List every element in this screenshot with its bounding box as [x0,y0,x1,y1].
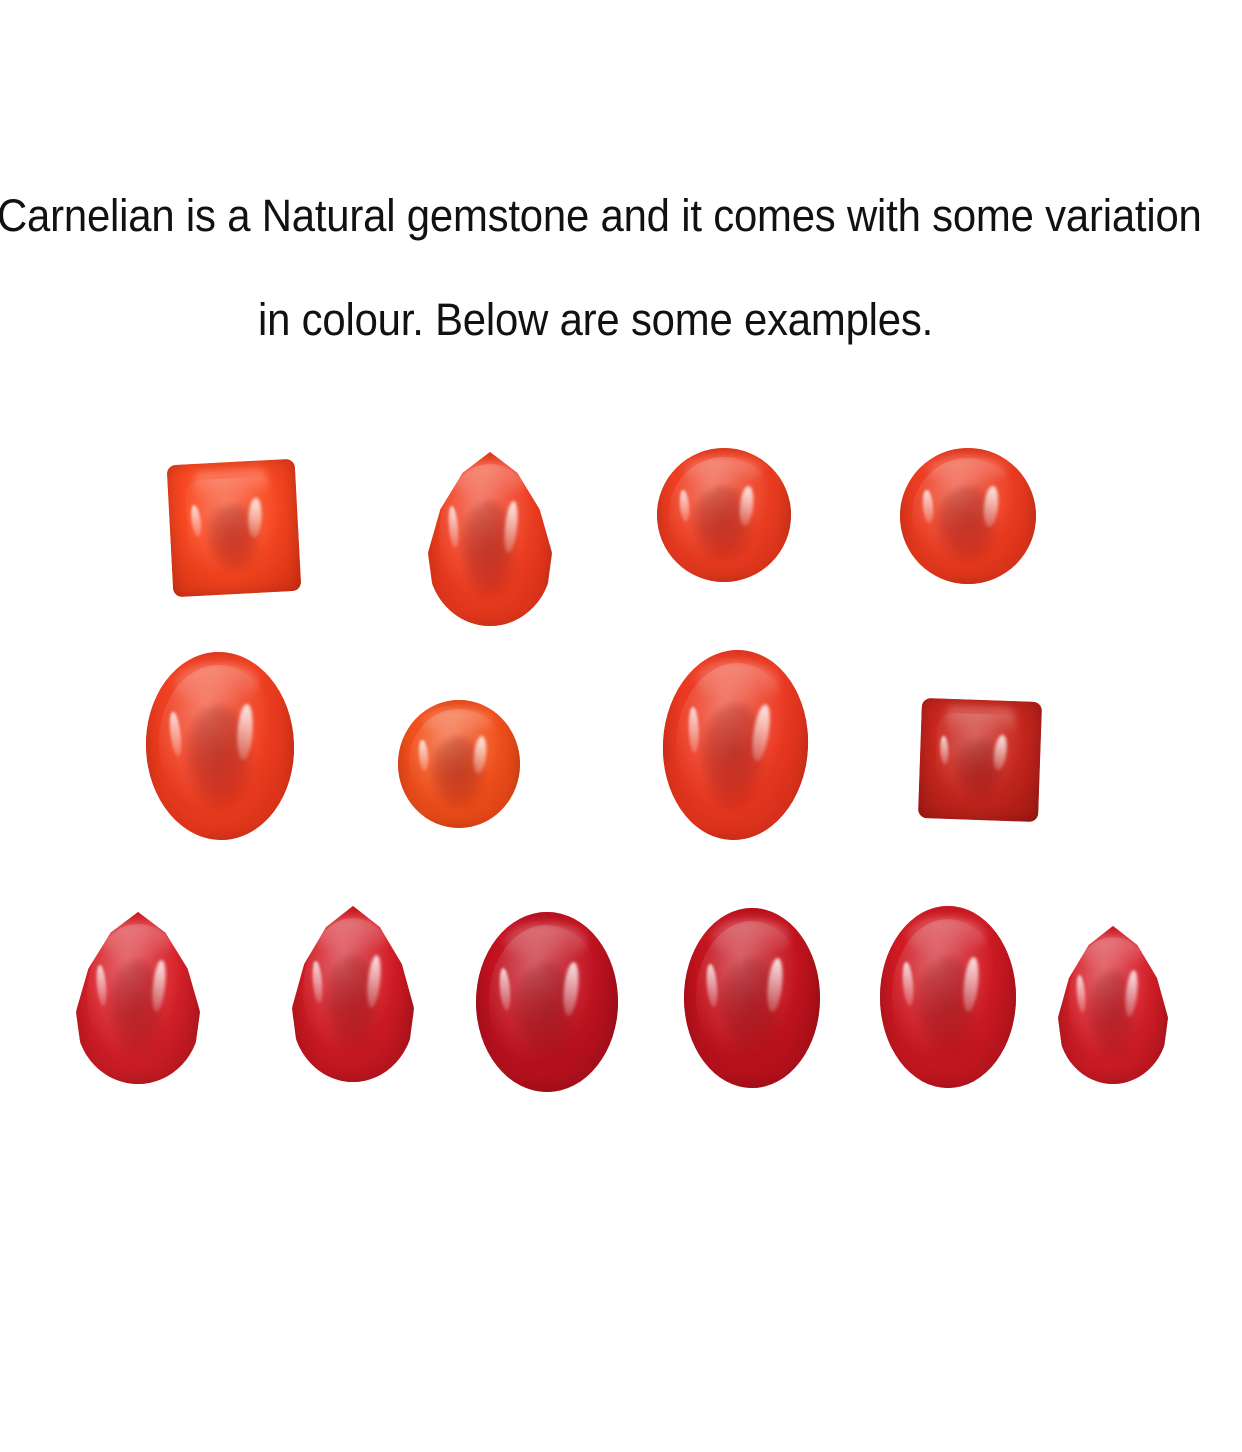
gemstone-pear-2 [428,452,552,626]
gem-dome [669,457,779,570]
gem-body-gradient [76,912,200,1084]
gem-hi-right [150,960,168,1013]
gem-core-shadow [513,962,578,1063]
gem-core-shadow [324,955,380,1054]
gem-core-shadow [697,701,769,811]
gemstone-oval-5 [143,649,297,842]
gem-body-gradient [476,912,618,1092]
gemstone-pear-14 [1058,926,1168,1084]
gem-hi-right [738,485,756,526]
gem-hi-left [922,490,934,523]
gem-hi-left [95,965,107,1007]
gem-rim [900,448,1036,584]
gemstone-pear-10 [292,906,414,1082]
gem-rim [428,452,552,626]
gem-core-shadow [952,737,1005,801]
gem-dome [157,663,284,825]
gem-body-gradient [143,649,297,842]
gem-body-gradient [167,459,302,598]
gem-rim [657,448,791,582]
gem-hi-left [417,739,428,770]
gem-hi-left [940,736,950,765]
gem-rim [684,908,820,1088]
gem-reflection [684,456,762,485]
gem-core-shadow [915,957,978,1059]
gem-dome [87,924,189,1068]
gem-rim [1058,926,1168,1084]
gem-dome [439,464,541,610]
gem-body-gradient [918,698,1042,822]
gemstone-oval-11 [476,912,618,1092]
gem-reflection [316,917,387,956]
caption-block: Carnelian is a Natural gemstone and it c… [0,186,1242,376]
gem-reflection [711,919,790,959]
gem-hi-left [189,504,202,537]
gem-core-shadow [935,486,998,562]
gemstone-oval-13 [880,906,1016,1088]
gem-hi-left [705,963,718,1007]
gem-dome [303,918,403,1066]
gemstone-grid [0,420,1242,1140]
gem-rim [167,459,302,598]
gemstone-round-3 [657,448,791,582]
gem-rim [918,698,1042,822]
gem-hi-right [749,704,772,763]
gemstone-oval-7 [658,646,813,843]
gem-hi-right [1124,970,1140,1018]
gem-body-gradient [292,906,414,1082]
gem-dome [409,709,509,817]
gem-rim [398,700,520,828]
gem-body-gradient [657,448,791,582]
gem-reflection [927,456,1006,486]
gemstone-square-1 [167,459,302,598]
gem-hi-right [982,485,1000,527]
caption-line-2: in colour. Below are some examples. [258,290,933,350]
gem-hi-right [561,962,581,1017]
gem-hi-right [365,955,383,1009]
gem-dome [892,919,1004,1072]
gem-hi-right [502,500,520,553]
gemstone-pear-9 [76,912,200,1084]
gem-core-shadow [205,503,262,574]
gem-reflection [694,659,780,705]
gem-hi-right [961,956,980,1012]
gem-dome [672,660,799,826]
gem-body-gradient [1058,926,1168,1084]
gem-body-gradient [900,448,1036,584]
gem-core-shadow [183,704,255,812]
gem-reflection [945,706,1015,735]
gemstone-oval-12 [684,908,820,1088]
gem-rim [143,649,297,842]
gem-hi-right [248,498,263,538]
carnelian-info-graphic: Carnelian is a Natural gemstone and it c… [0,0,1242,1452]
gem-core-shadow [1087,970,1138,1058]
gem-dome [912,458,1024,572]
gem-rim [76,912,200,1084]
gem-reflection [193,468,269,501]
gemstone-round-6 [398,700,520,828]
gem-rim [292,906,414,1082]
gem-hi-right [766,958,785,1013]
gem-hi-left [678,489,690,522]
gem-reflection [422,708,493,736]
gemstone-square-8 [918,698,1042,822]
gem-body-gradient [658,646,813,843]
gem-hi-left [498,967,512,1011]
gem-hi-left [688,707,700,753]
gem-reflection [1080,935,1144,970]
gem-body-gradient [880,906,1016,1088]
gem-dome [184,475,284,577]
gem-hi-left [311,960,323,1003]
gem-dome [696,921,808,1072]
gem-hi-right [235,703,254,760]
gem-hi-left [901,962,914,1006]
gem-body-gradient [428,452,552,626]
gem-reflection [173,662,260,706]
gem-rim [476,912,618,1092]
gem-rim [658,646,813,843]
gem-reflection [907,917,986,957]
gem-dome [934,713,1026,805]
gem-reflection [101,922,173,960]
gem-hi-right [472,735,488,774]
gem-body-gradient [684,908,820,1088]
gem-reflection [453,462,525,500]
gem-core-shadow [108,960,165,1056]
caption-line-1: Carnelian is a Natural gemstone and it c… [0,186,1202,246]
gem-dome [489,925,605,1076]
gemstone-round-4 [900,448,1036,584]
gem-dome [1068,937,1158,1070]
gem-hi-right [992,734,1009,771]
gem-core-shadow [692,486,754,561]
gem-body-gradient [398,700,520,828]
gem-core-shadow [430,736,486,808]
gem-core-shadow [460,501,517,598]
gem-hi-left [1075,975,1086,1013]
gem-rim [880,906,1016,1088]
gem-reflection [504,923,586,963]
gem-hi-left [447,506,459,548]
gem-hi-left [168,711,184,757]
gem-core-shadow [719,958,782,1059]
